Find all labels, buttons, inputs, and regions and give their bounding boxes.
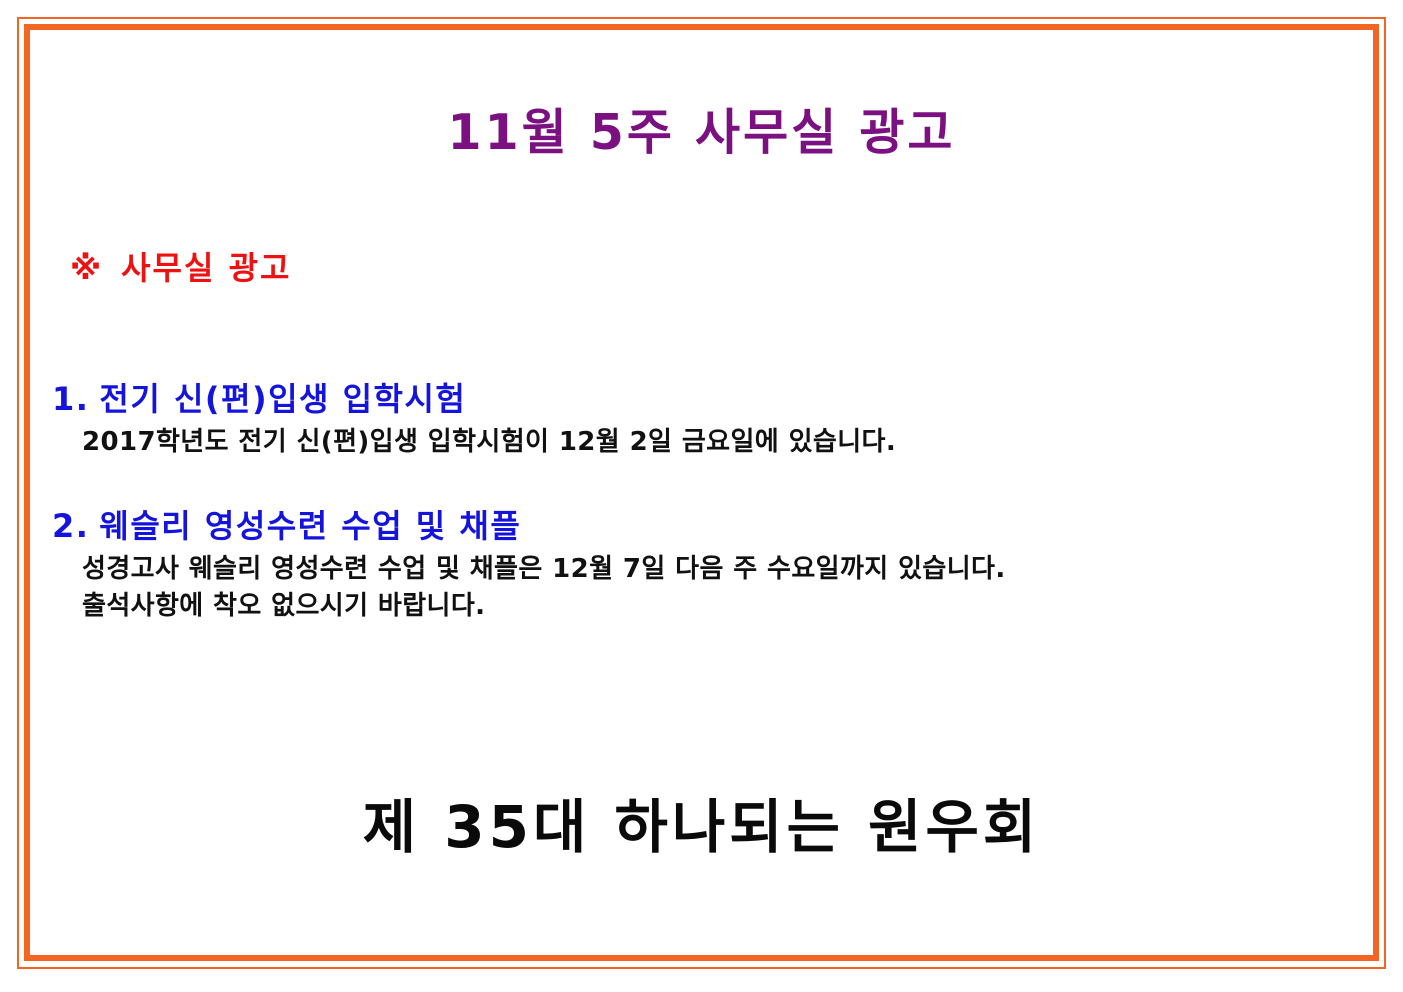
notice-item-1-body-line: 2017학년도 전기 신(편)입생 입학시험이 12월 2일 금요일에 있습니다…	[82, 424, 1363, 461]
notice-item-1-title: 전기 신(편)입생 입학시험	[99, 380, 466, 418]
notice-item-1: 1.전기 신(편)입생 입학시험 2017학년도 전기 신(편)입생 입학시험이…	[52, 380, 1363, 461]
reference-mark-icon: ※	[70, 249, 103, 287]
poster-content: 11월 5주 사무실 광고 ※사무실 광고 1.전기 신(편)입생 입학시험 2…	[30, 30, 1373, 955]
notice-item-2: 2.웨슬리 영성수련 수업 및 채플 성경고사 웨슬리 영성수련 수업 및 채플…	[52, 507, 1363, 625]
notice-item-1-heading: 1.전기 신(편)입생 입학시험	[52, 380, 1363, 418]
notice-item-2-body-line: 성경고사 웨슬리 영성수련 수업 및 채플은 12월 7일 다음 주 수요일까지…	[82, 551, 1363, 588]
notice-item-2-number: 2.	[52, 507, 89, 545]
section-heading-office-notice: ※사무실 광고	[70, 243, 291, 289]
notice-item-2-title: 웨슬리 영성수련 수업 및 채플	[99, 507, 521, 545]
notice-item-1-body: 2017학년도 전기 신(편)입생 입학시험이 12월 2일 금요일에 있습니다…	[52, 424, 1363, 461]
notice-item-2-body-line: 출석사항에 착오 없으시기 바랍니다.	[82, 588, 1363, 625]
notice-item-2-heading: 2.웨슬리 영성수련 수업 및 채플	[52, 507, 1363, 545]
notice-item-1-number: 1.	[52, 380, 89, 418]
announcement-poster: 11월 5주 사무실 광고 ※사무실 광고 1.전기 신(편)입생 입학시험 2…	[0, 0, 1403, 992]
poster-footer-signature: 제 35대 하나되는 원우회	[30, 796, 1373, 860]
notice-item-2-body: 성경고사 웨슬리 영성수련 수업 및 채플은 12월 7일 다음 주 수요일까지…	[52, 551, 1363, 625]
page-title: 11월 5주 사무실 광고	[30, 106, 1373, 160]
section-heading-label: 사무실 광고	[121, 249, 291, 287]
